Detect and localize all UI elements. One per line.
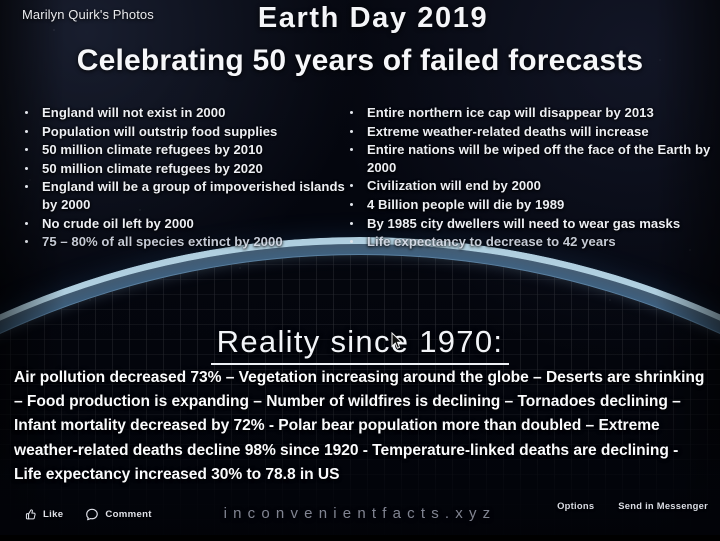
reality-heading-text: Reality since 1970: (211, 324, 510, 365)
list-item: Population will outstrip food supplies (18, 123, 348, 141)
reality-heading: Reality since 1970: (0, 324, 720, 365)
list-item: 50 million climate refugees by 2010 (18, 141, 348, 159)
frame-bottom-edge (0, 535, 720, 541)
predictions-columns: England will not exist in 2000 Populatio… (0, 104, 720, 274)
predictions-left-column: England will not exist in 2000 Populatio… (18, 104, 348, 252)
headline-secondary: Celebrating 50 years of failed forecasts (0, 44, 720, 78)
prediction-list-right: Entire northern ice cap will disappear b… (343, 104, 715, 251)
list-item: Entire northern ice cap will disappear b… (343, 104, 715, 122)
list-item: Life expectancy to decrease to 42 years (343, 233, 715, 251)
prediction-list-left: England will not exist in 2000 Populatio… (18, 104, 348, 251)
predictions-right-column: Entire northern ice cap will disappear b… (343, 104, 715, 252)
headline-primary: Earth Day 2019 (0, 2, 720, 35)
list-item: Civilization will end by 2000 (343, 177, 715, 195)
list-item: England will not exist in 2000 (18, 104, 348, 122)
reality-body-text: Air pollution decreased 73% – Vegetation… (14, 366, 710, 487)
list-item: Extreme weather-related deaths will incr… (343, 123, 715, 141)
meme-image: Marilyn Quirk's Photos Earth Day 2019 Ce… (0, 0, 720, 541)
list-item: 50 million climate refugees by 2020 (18, 160, 348, 178)
list-item: 4 Billion people will die by 1989 (343, 196, 715, 214)
list-item: England will be a group of impoverished … (18, 178, 348, 213)
list-item: No crude oil left by 2000 (18, 215, 348, 233)
list-item: Entire nations will be wiped off the fac… (343, 141, 715, 176)
list-item: 75 – 80% of all species extinct by 2000 (18, 233, 348, 251)
site-watermark: inconvenientfacts.xyz (0, 505, 720, 522)
list-item: By 1985 city dwellers will need to wear … (343, 215, 715, 233)
